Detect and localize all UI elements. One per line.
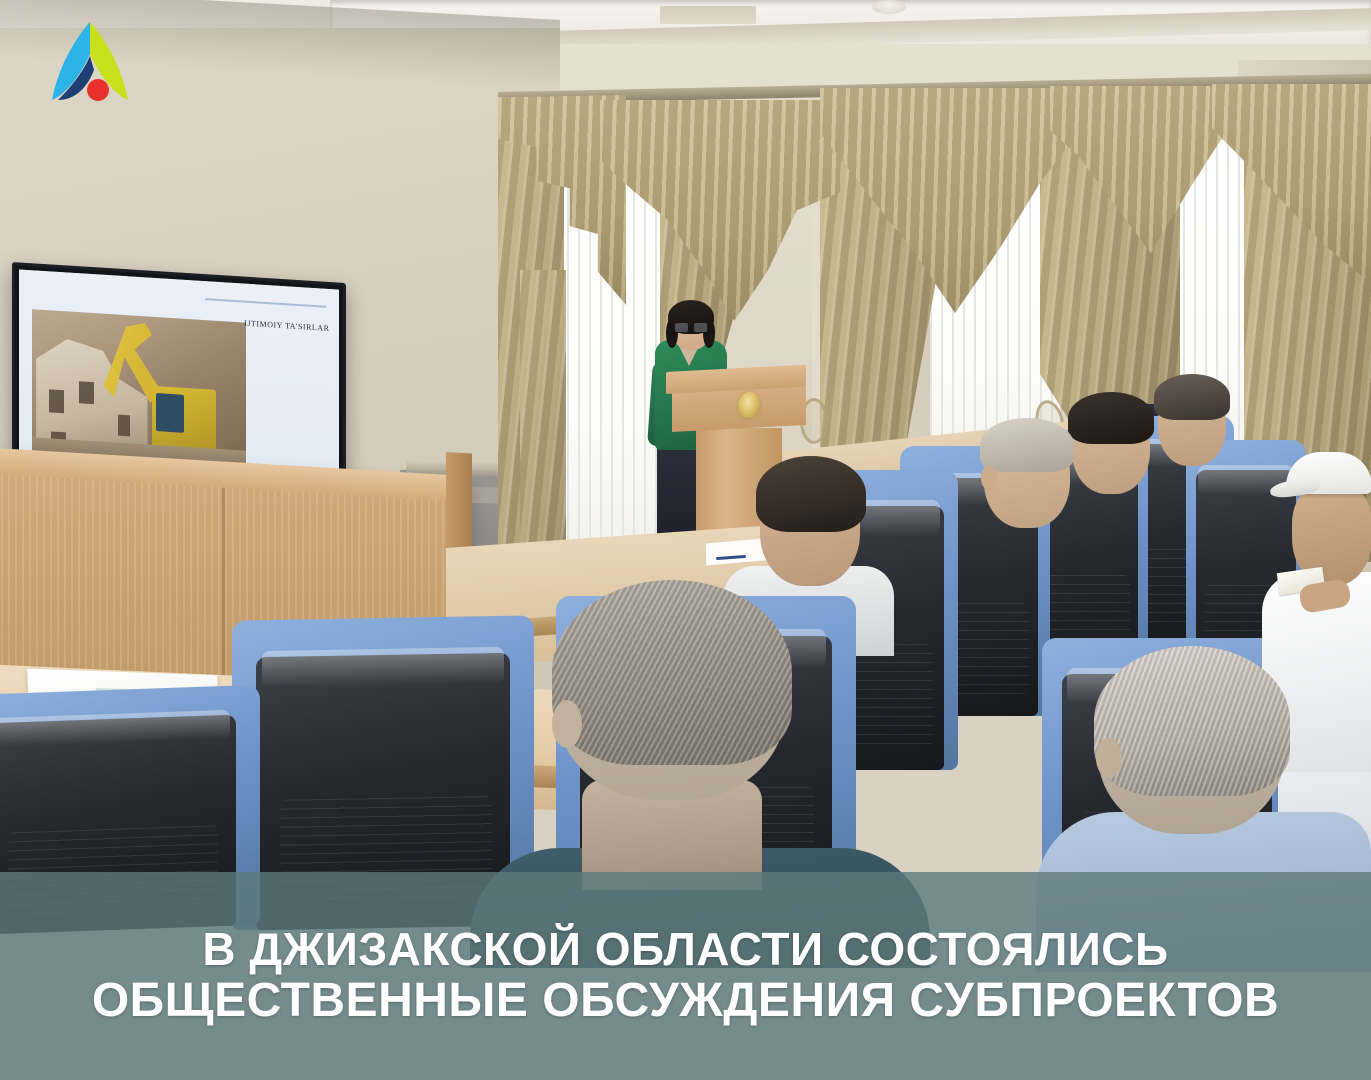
logo-red-dot [87, 79, 109, 101]
screenshot-root: IJTIMOIY TA'SIRLAR [0, 0, 1371, 1080]
curtain-panel-1b [520, 270, 566, 570]
caption-line-1: В ДЖИЗАКСКОЙ ОБЛАСТИ СОСТОЯЛИСЬ [202, 925, 1168, 974]
foreground-person-ear [552, 700, 582, 748]
caption-line-2: ОБЩЕСТВЕННЫЕ ОБСУЖДЕНИЯ СУБПРОЕКТОВ [92, 976, 1279, 1027]
audience-person-hair [756, 456, 866, 532]
front-desk-seam [222, 470, 225, 685]
audience-person-hair [980, 418, 1074, 472]
podium-emblem-icon [738, 391, 760, 418]
organization-logo [36, 16, 144, 116]
audience-person-ear [1096, 738, 1122, 778]
audience-person-hair [1068, 392, 1154, 444]
building-window [49, 390, 64, 413]
logo-icon [36, 16, 144, 116]
audience-person-hair [1094, 646, 1290, 796]
excavator-cab-window [156, 393, 184, 433]
building-window [79, 381, 94, 404]
ceiling-light-icon [872, 0, 906, 14]
audience-person-hair [1154, 374, 1230, 420]
audience-person-ear [981, 466, 997, 490]
ceiling-vent-icon [660, 6, 756, 24]
building-window [118, 415, 131, 437]
slide-accent-bar [205, 298, 327, 308]
foreground-person-hair [552, 580, 792, 765]
chair-gloss [262, 647, 504, 688]
speaker-glasses-icon [674, 322, 708, 331]
caption-overlay: В ДЖИЗАКСКОЙ ОБЛАСТИ СОСТОЯЛИСЬ ОБЩЕСТВЕ… [0, 872, 1371, 1080]
slide-title: IJTIMOIY TA'SIRLAR [244, 318, 329, 332]
